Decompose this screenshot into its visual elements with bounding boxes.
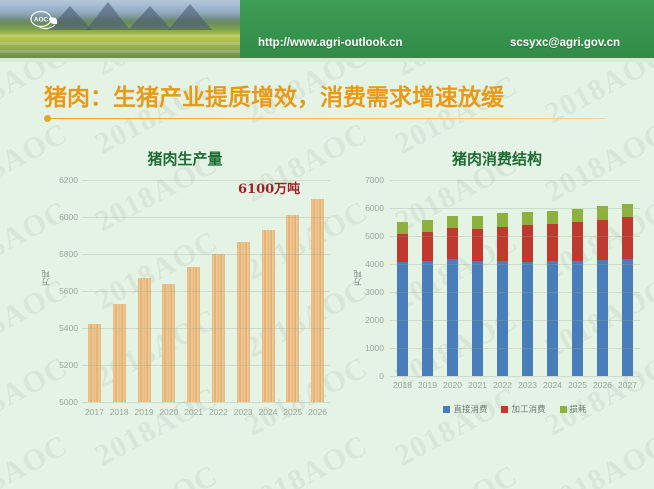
stack-segment	[447, 216, 458, 228]
y-tick-label: 7000	[356, 175, 384, 185]
stack-segment	[472, 261, 483, 376]
stack-segment	[572, 209, 583, 222]
legend-swatch	[443, 406, 450, 413]
stacked-bar	[422, 220, 433, 376]
watermark-text: 2018AOC	[90, 459, 224, 489]
stack-segment	[472, 216, 483, 229]
gridline	[390, 208, 640, 209]
chart-right-plot-area	[390, 180, 640, 376]
stacked-bar	[397, 222, 408, 376]
page-header: AOC http://www.agri-outlook.cn scsyxc@ag…	[0, 0, 654, 62]
legend-label: 加工消费	[511, 403, 545, 415]
bar	[162, 284, 175, 402]
stack-segment	[522, 212, 533, 225]
stacked-bar	[622, 204, 633, 376]
watermark-text: 2018AOC	[390, 459, 524, 489]
bar	[88, 324, 101, 402]
x-tick-label: 2021	[181, 407, 206, 417]
x-tick-label: 2024	[256, 407, 281, 417]
bar	[262, 230, 275, 402]
stack-segment	[572, 261, 583, 376]
stack-segment	[447, 228, 458, 259]
gridline	[82, 365, 330, 366]
x-tick-label: 2022	[206, 407, 231, 417]
gridline	[82, 291, 330, 292]
bar	[138, 278, 151, 402]
gridline	[390, 376, 640, 377]
y-tick-label: 5600	[48, 286, 78, 296]
gridline	[390, 236, 640, 237]
x-tick-label: 2023	[231, 407, 256, 417]
stack-segment	[547, 261, 558, 376]
stack-segment	[622, 204, 633, 218]
y-tick-label: 0	[356, 371, 384, 381]
bar	[311, 199, 324, 403]
y-tick-label: 5800	[48, 249, 78, 259]
legend-item[interactable]: 直接消费	[443, 403, 487, 415]
legend-swatch	[560, 406, 567, 413]
chart-right-y-axis-label: 万吨	[352, 270, 363, 286]
stack-segment	[572, 222, 583, 261]
stack-segment	[422, 261, 433, 376]
legend-item[interactable]: 损耗	[560, 403, 587, 415]
chart-left-annotation: 6100万吨	[238, 178, 300, 197]
header-divider	[0, 58, 654, 62]
gridline	[82, 328, 330, 329]
bar	[187, 267, 200, 402]
stack-segment	[397, 234, 408, 262]
stack-segment	[397, 222, 408, 233]
chart-left-y-axis-label: 万吨	[40, 270, 51, 286]
stack-segment	[472, 229, 483, 261]
header-email-address[interactable]: scsyxc@agri.gov.cn	[510, 37, 620, 49]
watermark-text: 2018AOC	[240, 429, 374, 489]
x-tick-label: 2017	[82, 407, 107, 417]
y-tick-label: 5400	[48, 323, 78, 333]
gridline	[390, 348, 640, 349]
gridline	[390, 292, 640, 293]
bar	[286, 215, 299, 402]
chart-right-title: 猪肉消费结构	[342, 148, 652, 169]
legend-label: 损耗	[570, 403, 587, 415]
chart-right-legend: 直接消费加工消费损耗	[390, 403, 640, 415]
stack-segment	[522, 225, 533, 262]
x-tick-label: 2025	[280, 407, 305, 417]
bar	[113, 304, 126, 402]
stack-segment	[497, 213, 508, 226]
chart-left-title: 猪肉生产量	[30, 148, 340, 169]
gridline	[82, 254, 330, 255]
gridline	[82, 217, 330, 218]
stack-segment	[522, 262, 533, 376]
stack-segment	[422, 220, 433, 232]
bar	[237, 242, 250, 402]
stack-segment	[597, 260, 608, 376]
legend-label: 直接消费	[453, 403, 487, 415]
x-tick-label: 2019	[132, 407, 157, 417]
x-tick-label: 2026	[305, 407, 330, 417]
svg-text:AOC: AOC	[34, 17, 49, 24]
chart-pork-production: 猪肉生产量 万吨 5000520054005600580060006200 20…	[30, 148, 340, 433]
stack-segment	[597, 220, 608, 260]
gridline	[390, 180, 640, 181]
chart-pork-consumption-structure: 猪肉消费结构 万吨 01000200030004000500060007000 …	[342, 148, 652, 433]
gridline	[390, 320, 640, 321]
y-tick-label: 6200	[48, 175, 78, 185]
y-tick-label: 4000	[356, 259, 384, 269]
y-tick-label: 5200	[48, 360, 78, 370]
watermark-text: 2018AOC	[0, 429, 74, 489]
x-tick-label: 2027	[612, 380, 643, 390]
stacked-bar	[497, 213, 508, 376]
stack-segment	[547, 224, 558, 262]
stack-segment	[547, 211, 558, 224]
x-tick-label: 2018	[107, 407, 132, 417]
header-website-url[interactable]: http://www.agri-outlook.cn	[258, 37, 403, 49]
stack-segment	[497, 227, 508, 262]
gridline	[390, 264, 640, 265]
legend-swatch	[501, 406, 508, 413]
y-tick-label: 5000	[356, 231, 384, 241]
y-tick-label: 1000	[356, 343, 384, 353]
y-tick-label: 5000	[48, 397, 78, 407]
stack-segment	[447, 259, 458, 376]
y-tick-label: 2000	[356, 315, 384, 325]
stack-segment	[497, 261, 508, 376]
watermark-text: 2018AOC	[540, 429, 654, 489]
stack-segment	[622, 259, 633, 376]
stacked-bar	[447, 216, 458, 376]
page-title: 猪肉：生猪产业提质增效，消费需求增速放缓	[44, 78, 504, 112]
gridline	[82, 402, 330, 403]
y-tick-label: 6000	[48, 212, 78, 222]
stacked-bar	[472, 216, 483, 376]
y-tick-label: 6000	[356, 203, 384, 213]
title-underline-rule	[46, 118, 606, 119]
stack-segment	[397, 262, 408, 376]
stack-segment	[622, 217, 633, 259]
legend-item[interactable]: 加工消费	[501, 403, 545, 415]
y-tick-label: 3000	[356, 287, 384, 297]
aoc-logo-icon: AOC	[26, 8, 60, 34]
x-tick-label: 2020	[156, 407, 181, 417]
